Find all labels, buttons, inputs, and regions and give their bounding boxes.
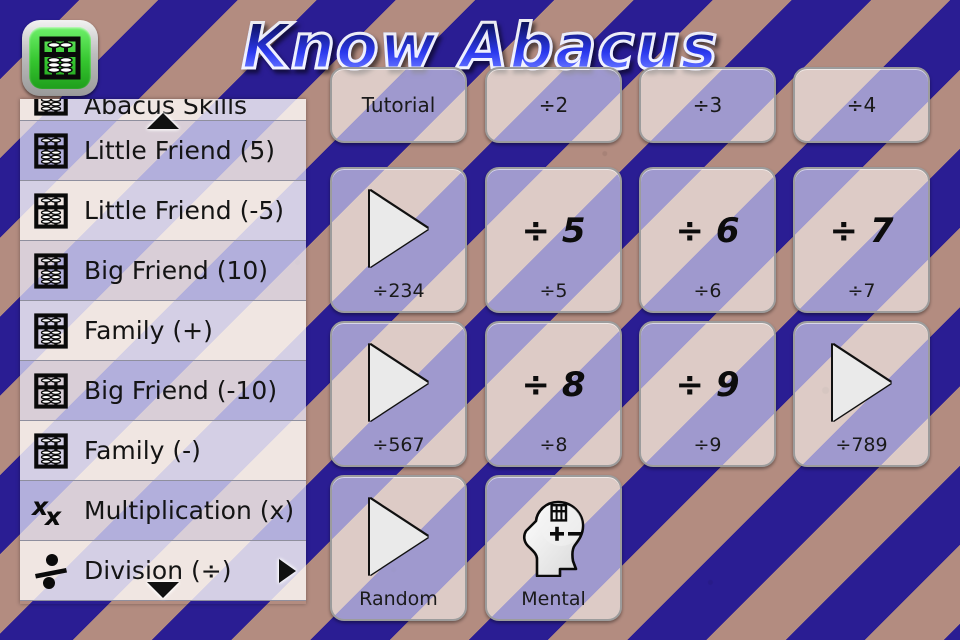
play-icon-wrap xyxy=(370,169,428,280)
play-icon-wrap xyxy=(370,323,428,434)
play-icon xyxy=(833,345,891,421)
list-item[interactable]: Big Friend (-10) xyxy=(20,361,306,421)
list-item-label: Family (-) xyxy=(84,436,201,465)
multiply-xx-icon: x x xyxy=(31,491,71,531)
list-item[interactable]: Little Friend (5) xyxy=(20,121,306,181)
list-item-label: Division (÷) xyxy=(84,556,231,585)
list-item[interactable]: Family (-) xyxy=(20,421,306,481)
abacus-icon xyxy=(33,99,69,117)
tile-big-label: ÷ 7 xyxy=(795,169,928,280)
triangle-down-icon[interactable] xyxy=(147,582,179,598)
abacus-icon xyxy=(33,132,69,170)
lesson-tile[interactable]: ÷4 xyxy=(793,67,930,143)
lesson-tile[interactable]: ÷567 xyxy=(330,321,467,467)
play-icon xyxy=(370,191,428,267)
list-item-label: Multiplication (x) xyxy=(84,496,294,525)
tile-caption: ÷789 xyxy=(835,434,887,465)
mental-head-icon-wrap xyxy=(517,477,591,588)
lesson-tile[interactable]: ÷ 8÷8 xyxy=(485,321,622,467)
list-item-label: Little Friend (5) xyxy=(84,136,275,165)
play-icon-wrap xyxy=(833,323,891,434)
abacus-icon xyxy=(30,189,72,233)
list-item[interactable]: Little Friend (-5) xyxy=(20,181,306,241)
lesson-tile[interactable]: Random xyxy=(330,475,467,621)
abacus-icon xyxy=(30,369,72,413)
abacus-icon xyxy=(30,309,72,353)
abacus-icon xyxy=(30,99,72,120)
chevron-right-icon xyxy=(279,559,296,583)
lesson-tile[interactable]: ÷ 6÷6 xyxy=(639,167,776,313)
divide-icon xyxy=(31,551,71,591)
lesson-tile[interactable]: Tutorial xyxy=(330,67,467,143)
lesson-grid[interactable]: Tutorial÷2÷3÷4÷234÷ 5÷5÷ 6÷6÷ 7÷7÷567÷ 8… xyxy=(330,99,930,619)
svg-text:x: x xyxy=(43,502,62,531)
divide-icon xyxy=(30,549,72,593)
list-item-label: Big Friend (10) xyxy=(84,256,268,285)
tile-caption: ÷8 xyxy=(539,434,567,465)
tile-caption: Random xyxy=(359,588,438,619)
list-item-label: Little Friend (-5) xyxy=(84,196,284,225)
tile-caption: Mental xyxy=(521,588,586,619)
lesson-tile[interactable]: ÷ 7÷7 xyxy=(793,167,930,313)
abacus-icon xyxy=(33,252,69,290)
lesson-tile[interactable]: ÷789 xyxy=(793,321,930,467)
list-item[interactable]: x x Multiplication (x) xyxy=(20,481,306,541)
abacus-glyph-icon xyxy=(38,36,82,80)
play-icon xyxy=(370,499,428,575)
abacus-icon xyxy=(33,192,69,230)
multiply-xx-icon: x x xyxy=(30,489,72,533)
abacus-icon xyxy=(33,372,69,410)
tile-caption: ÷2 xyxy=(539,93,568,117)
tile-caption: ÷4 xyxy=(847,93,876,117)
tile-caption: ÷234 xyxy=(372,280,424,311)
list-item[interactable]: Family (+) xyxy=(20,301,306,361)
lesson-tile[interactable]: ÷234 xyxy=(330,167,467,313)
lesson-tile[interactable]: ÷2 xyxy=(485,67,622,143)
list-item[interactable]: Big Friend (10) xyxy=(20,241,306,301)
lesson-tile[interactable]: ÷ 9÷9 xyxy=(639,321,776,467)
play-icon-wrap xyxy=(370,477,428,588)
abacus-icon xyxy=(33,432,69,470)
tile-caption: ÷567 xyxy=(372,434,424,465)
app-icon-inner xyxy=(29,27,91,89)
list-item-label: Family (+) xyxy=(84,316,213,345)
abacus-icon xyxy=(33,312,69,350)
tile-big-label: ÷ 6 xyxy=(641,169,774,280)
tile-big-label: ÷ 5 xyxy=(487,169,620,280)
tile-caption: ÷3 xyxy=(693,93,722,117)
skills-list[interactable]: Abacus Skills Little Friend (5) Little F… xyxy=(20,99,306,604)
lesson-tile[interactable]: ÷3 xyxy=(639,67,776,143)
abacus-app-icon[interactable] xyxy=(22,20,98,96)
tile-caption: ÷6 xyxy=(693,280,721,311)
tile-caption: ÷7 xyxy=(847,280,875,311)
triangle-up-icon[interactable] xyxy=(147,113,179,129)
abacus-icon xyxy=(30,129,72,173)
tile-caption: Tutorial xyxy=(362,93,436,117)
tile-big-label: ÷ 8 xyxy=(487,323,620,434)
lesson-tile[interactable]: ÷ 5÷5 xyxy=(485,167,622,313)
play-icon xyxy=(370,345,428,421)
tile-big-label: ÷ 9 xyxy=(641,323,774,434)
abacus-icon xyxy=(30,429,72,473)
tile-caption: ÷5 xyxy=(539,280,567,311)
abacus-icon xyxy=(30,249,72,293)
mental-head-icon xyxy=(517,499,591,577)
lesson-tile[interactable]: Mental xyxy=(485,475,622,621)
tile-caption: ÷9 xyxy=(693,434,721,465)
list-item-label: Big Friend (-10) xyxy=(84,376,277,405)
